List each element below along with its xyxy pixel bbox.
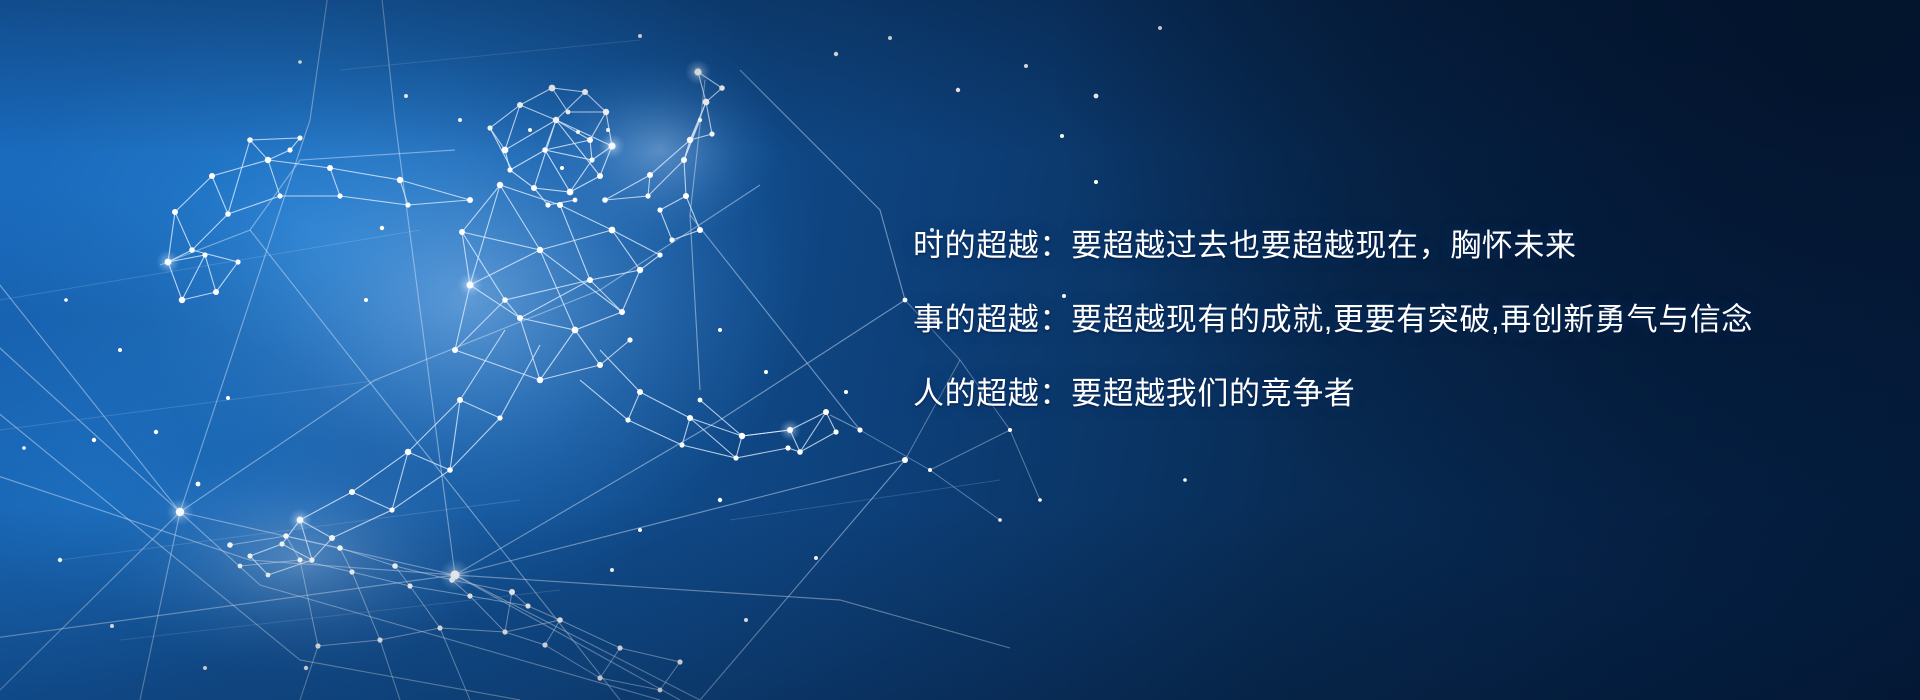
- slogan-text-block: 时的超越：要超越过去也要超越现在，胸怀未来 事的超越：要超越现有的成就,更要有突…: [913, 228, 1873, 412]
- hero-banner: 时的超越：要超越过去也要超越现在，胸怀未来 事的超越：要超越现有的成就,更要有突…: [0, 0, 1920, 700]
- slogan-line-1: 时的超越：要超越过去也要超越现在，胸怀未来: [913, 228, 1873, 264]
- slogan-line-2: 事的超越：要超越现有的成就,更要有突破,再创新勇气与信念: [913, 302, 1873, 338]
- slogan-line-3: 人的超越：要超越我们的竞争者: [913, 376, 1873, 412]
